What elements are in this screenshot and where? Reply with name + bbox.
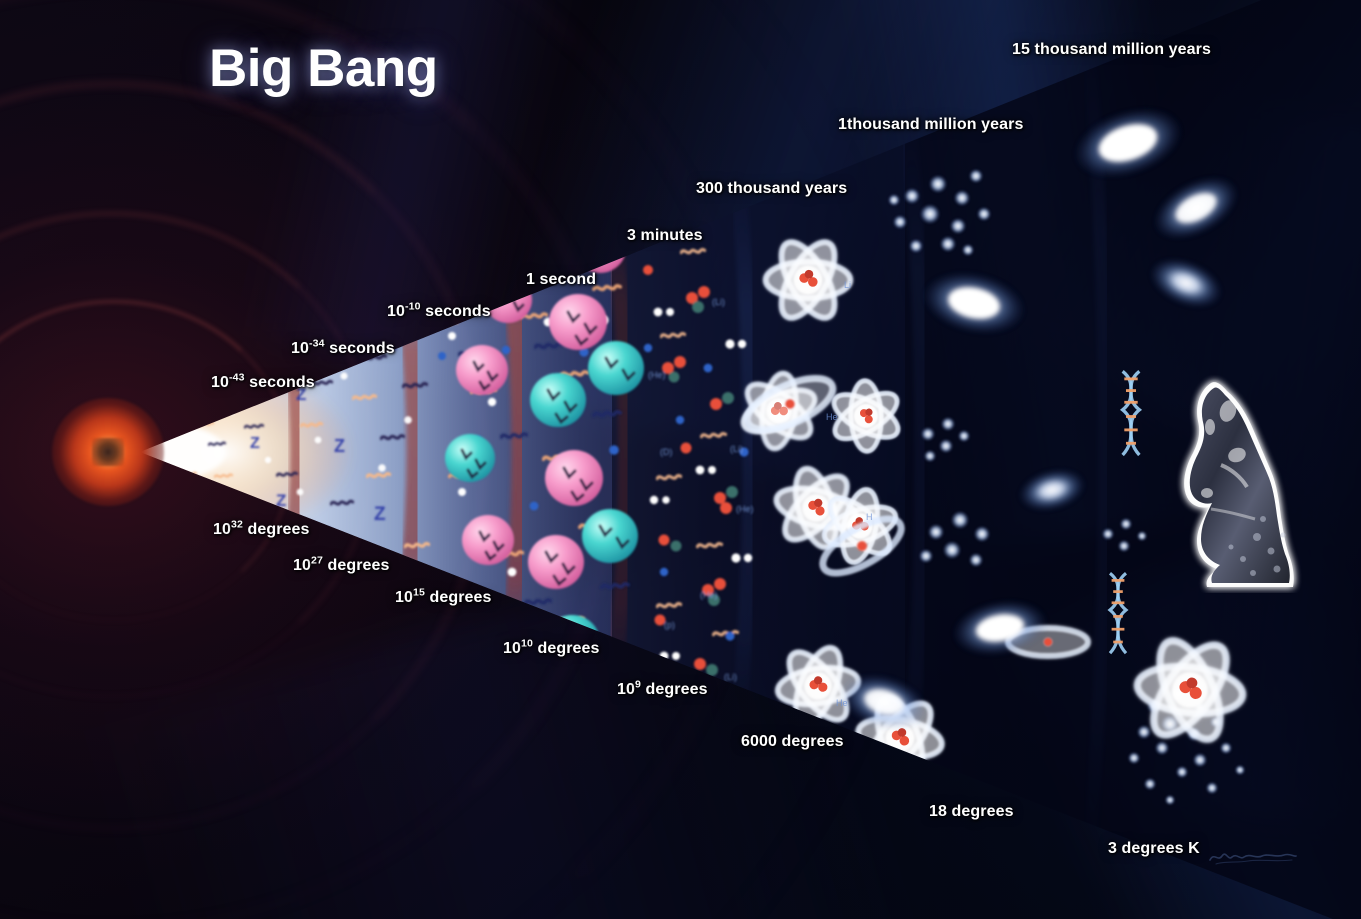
svg-text:(D): (D) (660, 447, 673, 457)
temperature-label-3: 1010 degrees (503, 640, 600, 658)
temperature-label-0: 1032 degrees (213, 521, 310, 539)
svg-text:(Li): (Li) (724, 672, 737, 682)
svg-text:Z: Z (320, 524, 331, 544)
svg-text:(p): (p) (664, 620, 675, 630)
svg-text:(He): (He) (700, 590, 718, 600)
svg-text:(Li): (Li) (730, 444, 743, 454)
temperature-label-6: 18 degrees (929, 803, 1014, 821)
time-label-2: 10-10 seconds (387, 303, 491, 321)
temperature-label-5: 6000 degrees (741, 733, 844, 751)
svg-text:(He): (He) (648, 370, 666, 380)
time-label-1: 10-34 seconds (291, 340, 395, 358)
svg-text:H: H (866, 512, 873, 522)
thinker-statue (1165, 369, 1321, 593)
svg-text:Li: Li (844, 280, 851, 290)
time-label-5: 300 thousand years (696, 180, 847, 198)
big-bang-diagram: Z Z Z Z Z Z Z Z (0, 0, 1361, 919)
svg-text:(He): (He) (736, 504, 754, 514)
svg-text:Z: Z (374, 504, 386, 525)
singularity-core (92, 438, 124, 466)
artist-signature (1206, 848, 1298, 866)
temperature-label-7: 3 degrees K (1108, 840, 1200, 858)
time-label-3: 1 second (526, 271, 596, 289)
svg-text:Z: Z (334, 436, 345, 456)
svg-text:Z: Z (276, 491, 286, 510)
svg-text:(Li): (Li) (712, 297, 725, 307)
time-label-6: 1thousand million years (838, 116, 1023, 134)
temperature-label-4: 109 degrees (617, 681, 708, 699)
temperature-label-2: 1015 degrees (395, 589, 492, 607)
time-label-7: 15 thousand million years (1012, 41, 1211, 59)
svg-text:Z: Z (250, 435, 260, 452)
svg-text:Z: Z (358, 588, 370, 609)
expansion-cone: Z Z Z Z Z Z Z Z (0, 0, 1361, 919)
time-label-0: 10-43 seconds (211, 374, 315, 392)
page-title: Big Bang (209, 38, 438, 99)
temperature-label-1: 1027 degrees (293, 557, 390, 575)
svg-text:He: He (826, 412, 838, 422)
time-label-4: 3 minutes (627, 227, 703, 245)
